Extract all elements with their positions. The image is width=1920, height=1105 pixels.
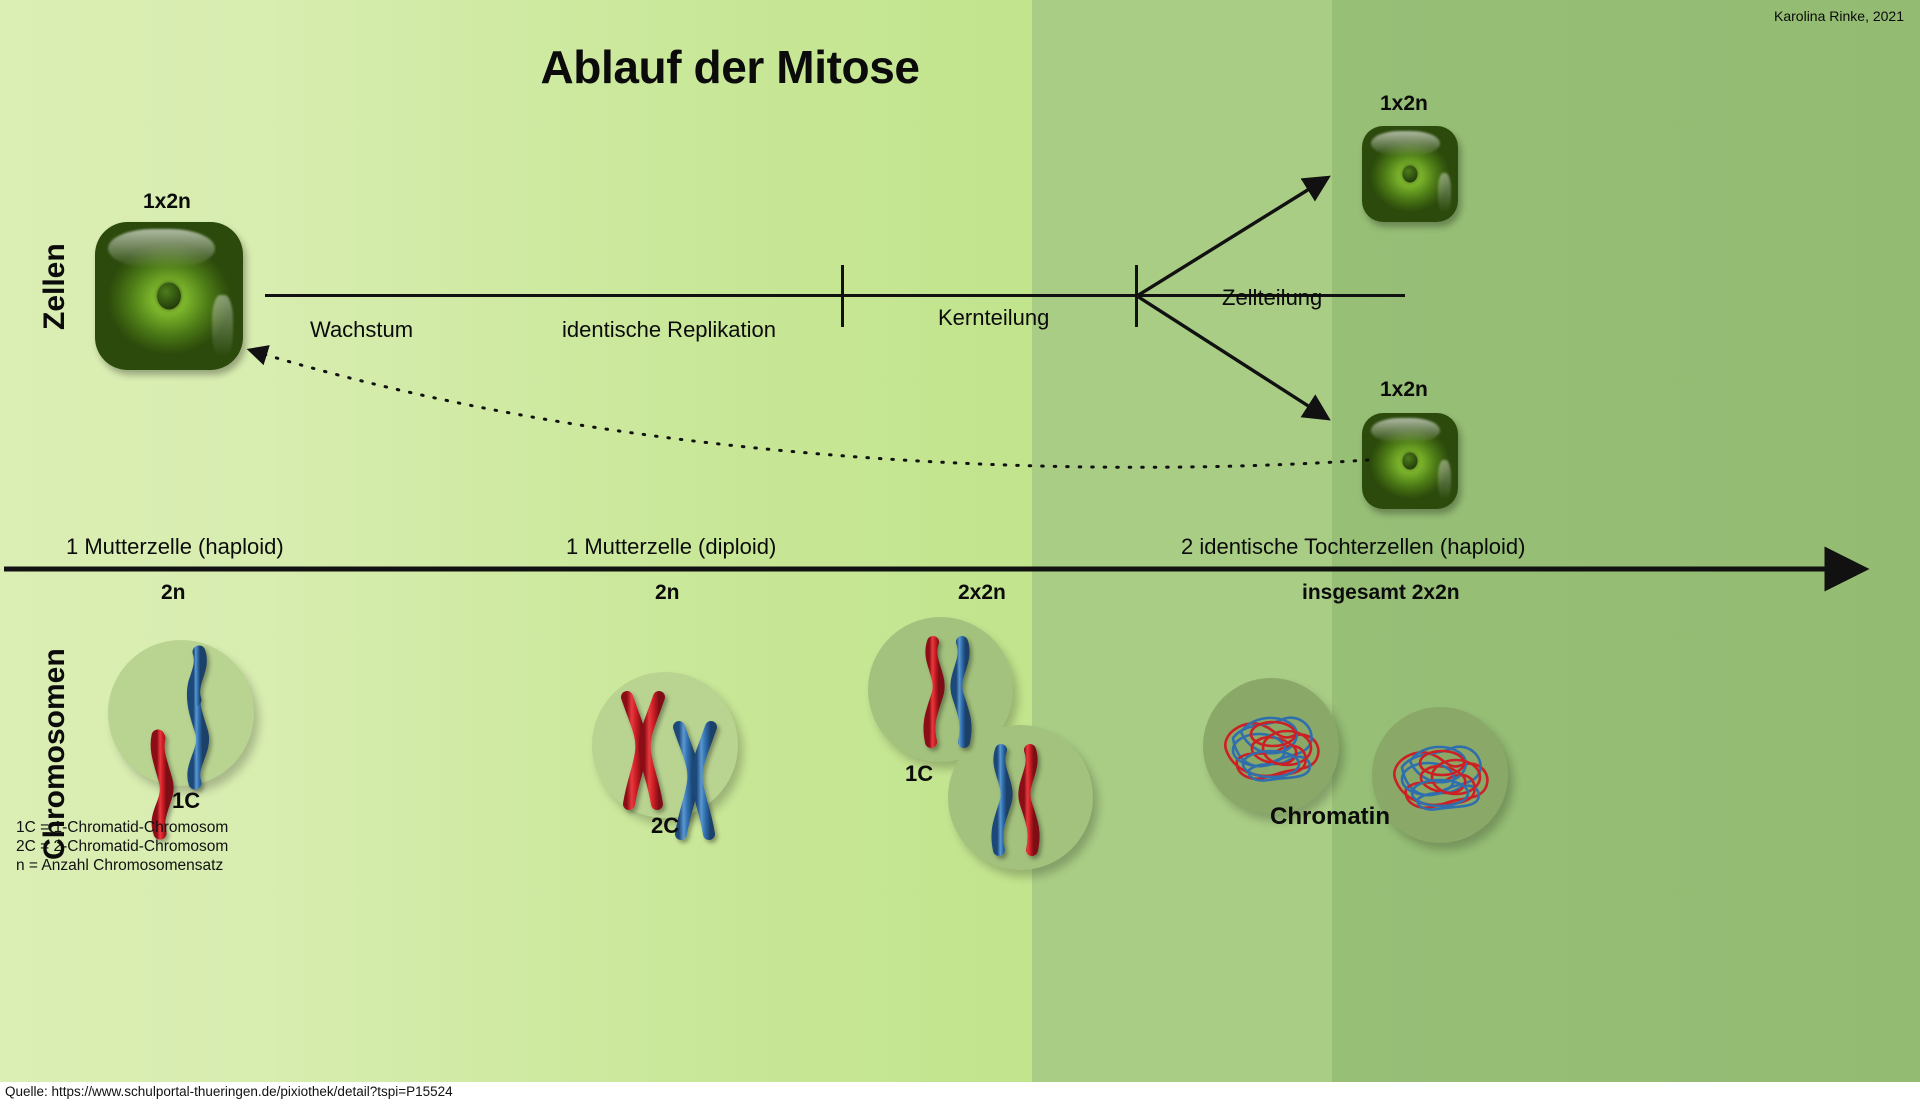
chromosome-label-4: Chromatin <box>1270 803 1390 831</box>
daughter-cell-bottom-ploidy-label: 1x2n <box>1380 378 1428 402</box>
daughter-cell-bottom <box>1362 413 1458 509</box>
mitosis-diagram: Ablauf der Mitose Karolina Rinke, 2021 Z… <box>0 0 1920 1105</box>
process-label-cell-division: Zellteilung <box>1222 285 1322 311</box>
daughter-cell-top-ploidy-label: 1x2n <box>1380 92 1428 116</box>
nucleus-icon <box>157 283 181 310</box>
stage-ploidy-1: 2n <box>161 581 186 605</box>
chromosome-label-2: 2C <box>651 813 679 839</box>
page-title: Ablauf der Mitose <box>0 40 1460 94</box>
nucleus-icon <box>1403 166 1418 183</box>
source-text: Quelle: https://www.schulportal-thuering… <box>5 1084 453 1099</box>
daughter-cell-top <box>1362 126 1458 222</box>
timeline-tick-1 <box>841 265 844 327</box>
stage-ploidy-2: 2n <box>655 581 680 605</box>
stage-caption-1: 1 Mutterzelle (haploid) <box>66 534 284 560</box>
legend-line-1: 1C = 1-Chromatid-Chromosom <box>16 818 228 837</box>
stage-ploidy-4: insgesamt 2x2n <box>1302 581 1460 605</box>
nucleus-circle-4a <box>1203 678 1339 814</box>
credit-text: Karolina Rinke, 2021 <box>1774 8 1904 24</box>
nucleus-circle-2 <box>592 672 738 818</box>
mother-cell-ploidy-label: 1x2n <box>143 190 191 214</box>
legend-line-3: n = Anzahl Chromosomensatz <box>16 856 228 875</box>
mother-cell <box>95 222 243 370</box>
nucleus-circle-4b <box>1372 707 1508 843</box>
process-label-replication: identische Replikation <box>562 317 776 343</box>
process-label-nuclear-division: Kernteilung <box>938 305 1049 331</box>
row-label-cells: Zellen <box>38 243 72 330</box>
stage-caption-2: 1 Mutterzelle (diploid) <box>566 534 776 560</box>
nucleus-icon <box>1403 453 1418 470</box>
nucleus-circle-1 <box>108 640 254 786</box>
process-label-growth: Wachstum <box>310 317 413 343</box>
chromosome-label-1: 1C <box>172 788 200 814</box>
nucleus-circle-3b <box>948 725 1093 870</box>
chromosome-label-3: 1C <box>905 761 933 787</box>
stage-caption-4: 2 identische Tochterzellen (haploid) <box>1181 534 1525 560</box>
legend: 1C = 1-Chromatid-Chromosom 2C = 2-Chroma… <box>16 818 228 875</box>
stage-ploidy-3: 2x2n <box>958 581 1006 605</box>
timeline-tick-2 <box>1135 265 1138 327</box>
legend-line-2: 2C = 2-Chromatid-Chromosom <box>16 837 228 856</box>
